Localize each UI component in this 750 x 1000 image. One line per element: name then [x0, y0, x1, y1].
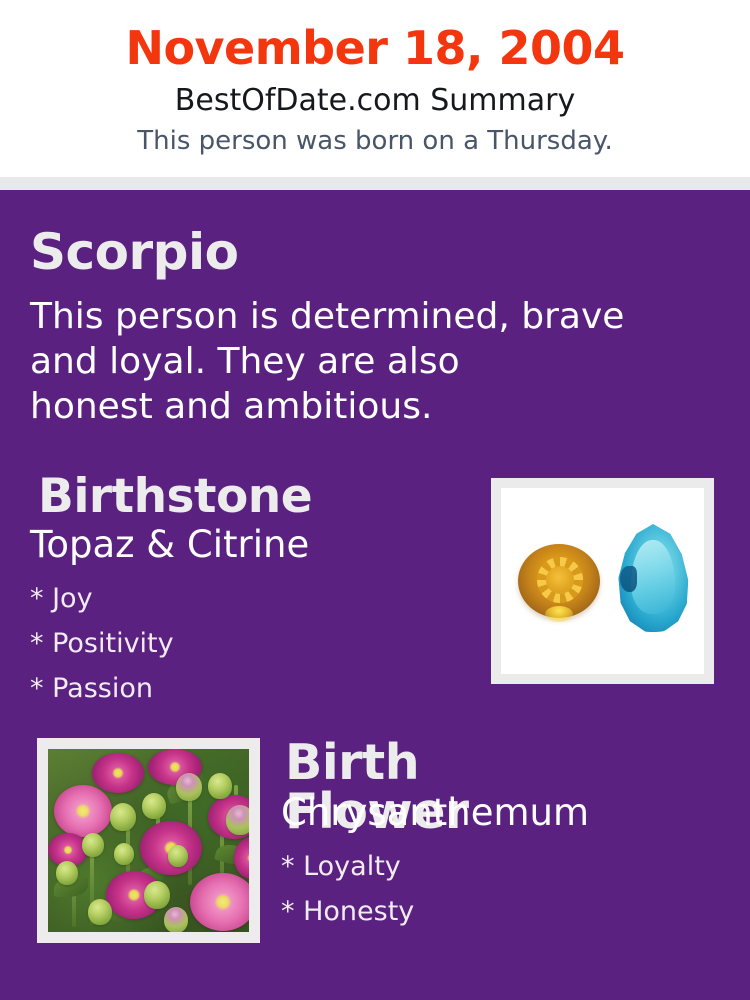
zodiac-description: This person is determined, brave and loy…: [30, 294, 700, 429]
birthstone-image-inner: [501, 488, 704, 674]
card-header: November 18, 2004 BestOfDate.com Summary…: [0, 0, 750, 177]
flower-bud-icon: [56, 861, 78, 885]
list-item: * Passion: [30, 666, 174, 711]
list-item: * Loyalty: [281, 844, 414, 889]
flower-bloom-icon: [234, 837, 249, 879]
header-divider: [0, 177, 750, 190]
list-item: * Honesty: [281, 889, 414, 934]
flower-bud-icon: [82, 833, 104, 857]
flower-bud-icon: [144, 881, 170, 909]
birthstone-image: [491, 478, 714, 684]
birthstone-heading: Birthstone: [38, 473, 312, 520]
summary-card: November 18, 2004 BestOfDate.com Summary…: [0, 0, 750, 1000]
birth-flower-image: [37, 738, 260, 943]
list-item: * Joy: [30, 576, 174, 621]
zodiac-sign-title: Scorpio: [30, 227, 238, 277]
weekday-subtitle: This person was born on a Thursday.: [0, 128, 750, 154]
flower-bloom-icon: [54, 785, 112, 837]
birth-flower-name: Chrysanthemum: [281, 794, 589, 831]
flower-bud-icon: [164, 907, 188, 932]
birthstone-name: Topaz & Citrine: [30, 526, 309, 563]
flower-bud-icon: [226, 805, 249, 835]
birthstone-trait-list: * Joy * Positivity * Passion: [30, 576, 174, 711]
list-item: * Positivity: [30, 621, 174, 666]
flower-bud-icon: [208, 773, 232, 799]
flower-bud-icon: [88, 899, 112, 925]
birth-flower-image-inner: [48, 749, 249, 932]
flower-bloom-icon: [92, 753, 144, 793]
flower-bud-icon: [142, 793, 166, 819]
citrine-glow-icon: [545, 606, 573, 622]
flower-bloom-icon: [190, 873, 249, 931]
site-name: BestOfDate.com Summary: [0, 86, 750, 116]
page-title-date: November 18, 2004: [0, 25, 750, 71]
topaz-gem-icon: [617, 524, 689, 632]
flower-bud-icon: [168, 845, 188, 867]
flower-bud-icon: [114, 843, 134, 865]
flower-bud-icon: [176, 773, 202, 801]
flower-bud-icon: [110, 803, 136, 831]
birth-flower-trait-list: * Loyalty * Honesty: [281, 844, 414, 934]
